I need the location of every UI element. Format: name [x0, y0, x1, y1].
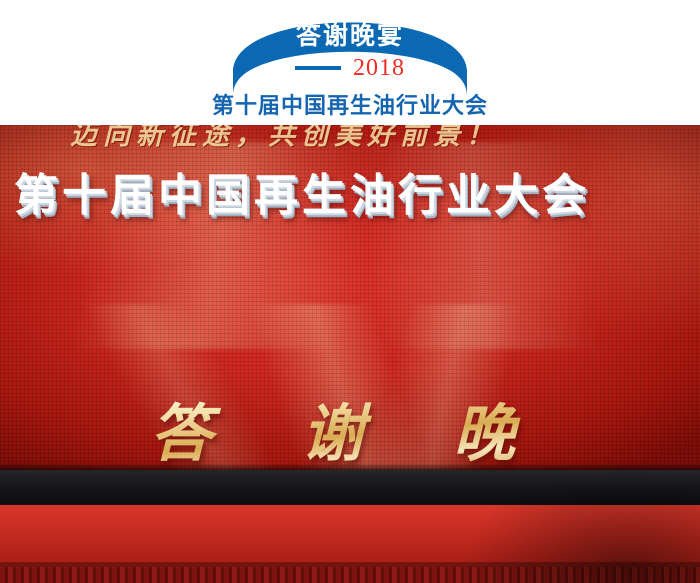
- page-header: 答谢晚宴 2018 第十届中国再生油行业大会: [0, 0, 700, 125]
- screen-gold-title: 答 谢 晚 宴: [150, 383, 590, 473]
- page-subtitle: 第十届中国再生油行业大会: [0, 88, 700, 120]
- screen-cursive-line: 迈向新征途，共创美好前景！: [70, 125, 630, 157]
- year-label: 2018: [353, 56, 405, 80]
- event-photo: 迈向新征途，共创美好前景！ 第十届中国再生油行业大会 答 谢 晚 宴 主办： 承…: [0, 125, 700, 583]
- screen-headline: 第十届中国再生油行业大会: [14, 159, 700, 223]
- banner-title: 答谢晚宴: [0, 16, 700, 52]
- led-screen: 迈向新征途，共创美好前景！ 第十届中国再生油行业大会 答 谢 晚 宴 主办： 承…: [0, 125, 700, 470]
- year-dash-icon: [295, 66, 341, 70]
- stage-deck: [0, 470, 700, 505]
- stage-skirt: [0, 567, 700, 583]
- year-row: 2018: [0, 56, 700, 80]
